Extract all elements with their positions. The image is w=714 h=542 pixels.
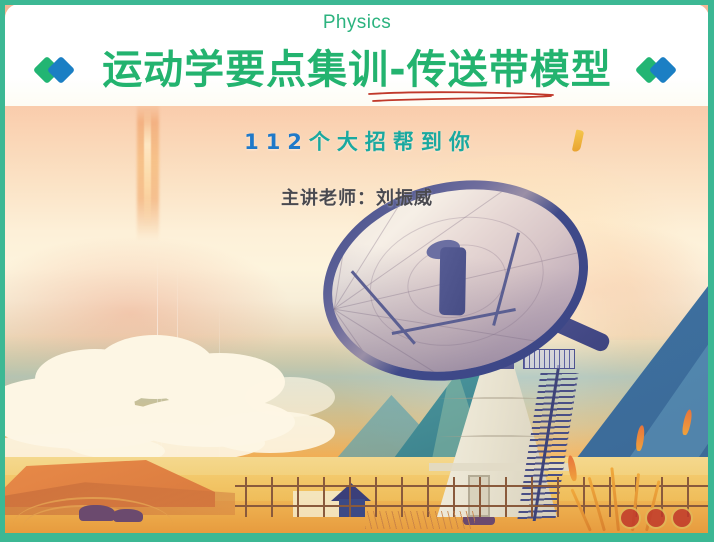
cloud	[245, 377, 335, 417]
subtitle: 112个大招帮到你	[0, 126, 714, 156]
frame-bottom	[0, 533, 714, 542]
fence-post	[505, 477, 507, 517]
decorative-seal	[645, 507, 667, 529]
feed-horn	[439, 247, 466, 315]
fence-post	[479, 477, 481, 517]
fence-post	[245, 477, 247, 517]
page-title-text: 运动学要点集训-传送带模型	[102, 47, 612, 93]
rock	[113, 509, 143, 522]
fence-post	[557, 477, 559, 517]
fence-post	[297, 477, 299, 517]
fence-post	[609, 477, 611, 517]
fence-post	[349, 477, 351, 517]
subject-label: Physics	[5, 12, 709, 34]
cloud	[205, 411, 335, 453]
course-cover: Physics 运动学要点集训-传送带模型 112个大招帮到你 主讲老师：刘振威	[0, 0, 714, 542]
presenter-label: 主讲老师：刘振威	[0, 184, 714, 210]
fence-post	[531, 477, 533, 517]
fence-post	[271, 477, 273, 517]
hut-body	[339, 499, 365, 517]
subtitle-count: 112	[244, 130, 309, 154]
page-title: 运动学要点集训-传送带模型	[102, 50, 612, 90]
decorative-seal	[671, 507, 693, 529]
diamond-pair-icon-right	[638, 57, 678, 83]
decorative-seal	[619, 507, 641, 529]
rock	[79, 505, 115, 521]
subtitle-text: 个大招帮到你	[309, 130, 477, 154]
fence-rail	[235, 505, 708, 507]
field-trellis	[365, 511, 475, 529]
title-row: 运动学要点集训-传送带模型	[5, 42, 709, 98]
title-card: Physics 运动学要点集训-传送带模型	[5, 4, 709, 106]
title-underline-icon	[367, 90, 557, 106]
fence-post	[323, 477, 325, 517]
diamond-pair-icon-left	[36, 57, 76, 83]
